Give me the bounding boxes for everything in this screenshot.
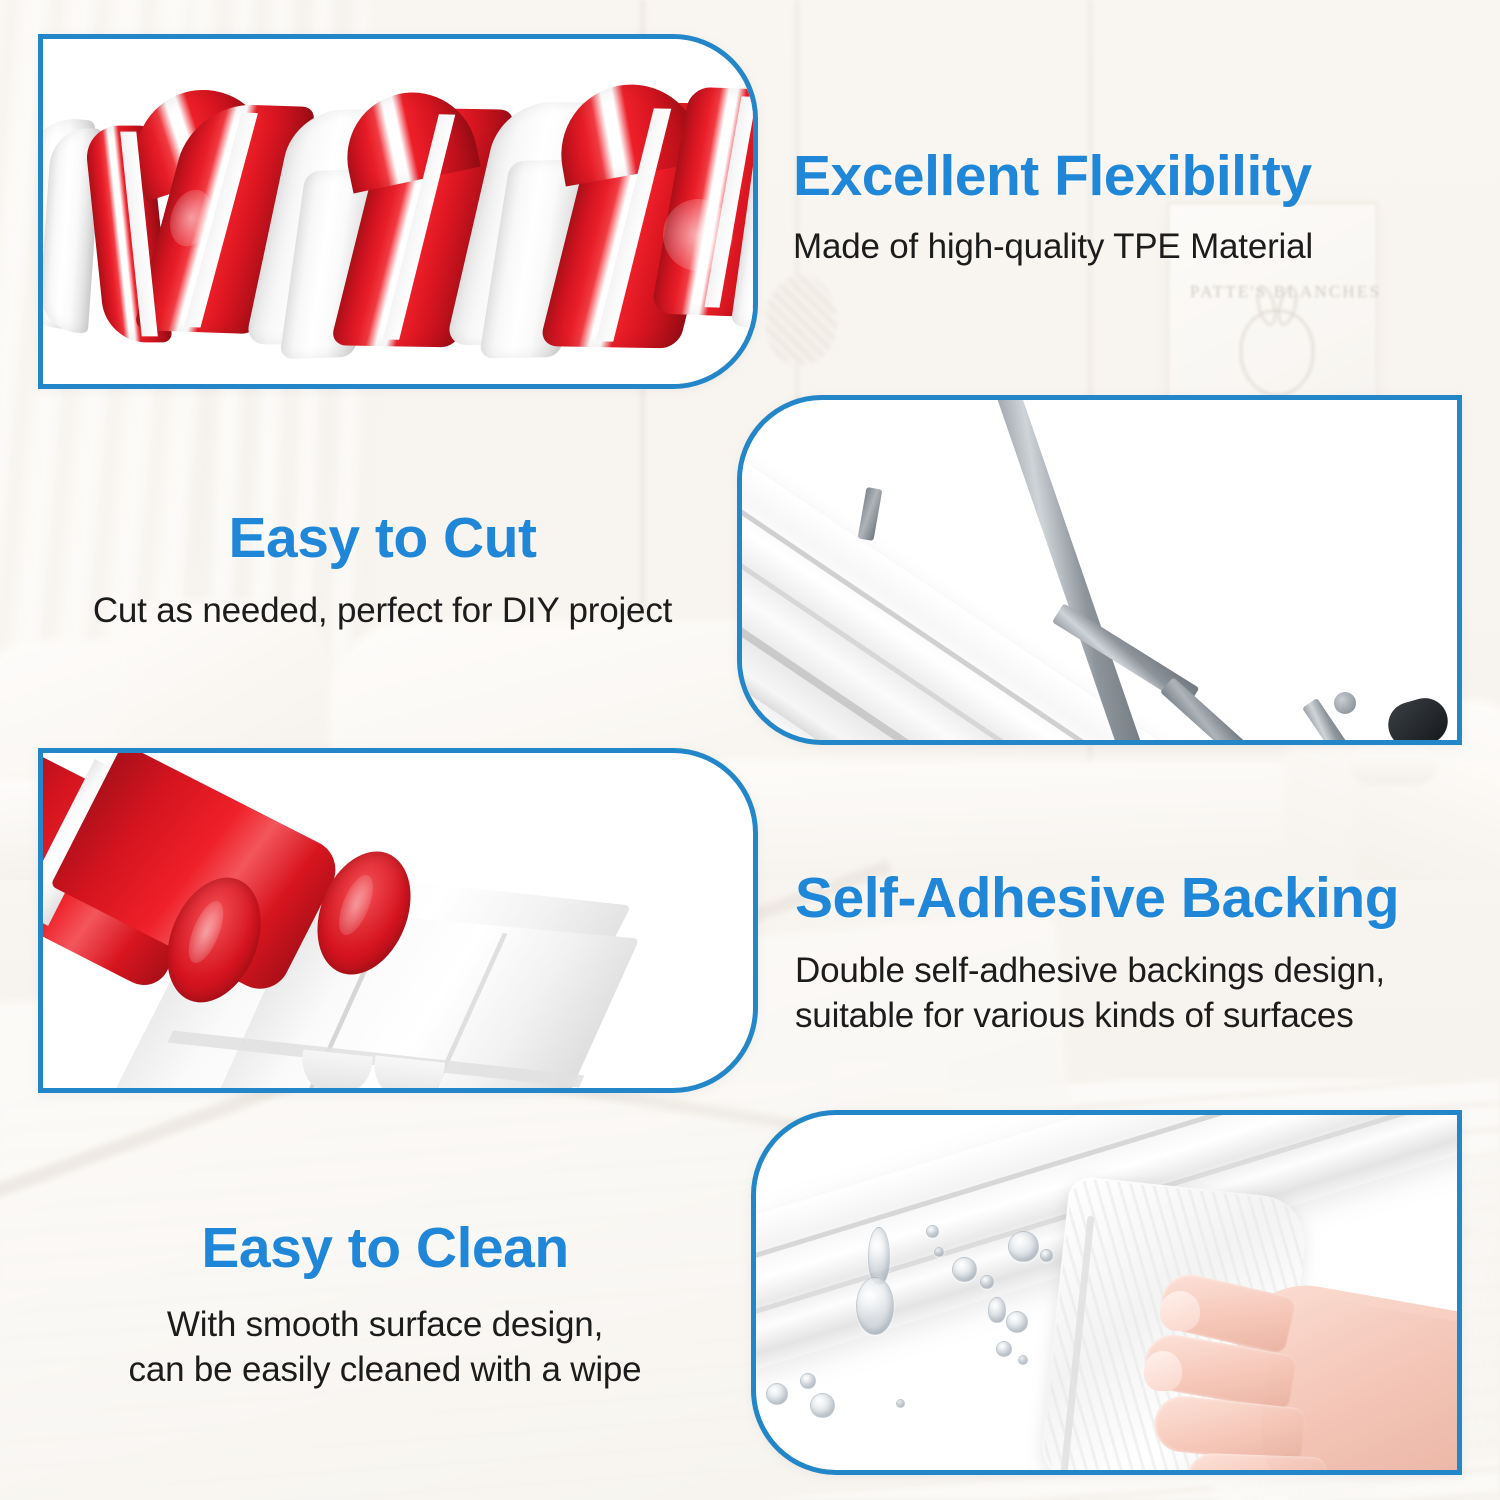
water-droplet <box>856 1277 894 1335</box>
feature-subtext-line-2: suitable for various kinds of surfaces <box>795 995 1399 1038</box>
water-droplet <box>996 1341 1012 1357</box>
water-droplet <box>980 1275 994 1289</box>
feature-image-panel-flexibility <box>38 34 758 389</box>
feature-text-flexibility: Excellent Flexibility Made of high-quali… <box>793 146 1313 269</box>
feature-text-self-adhesive: Self-Adhesive Backing Double self-adhesi… <box>795 868 1399 1038</box>
feature-heading: Self-Adhesive Backing <box>795 868 1399 928</box>
feature-heading: Excellent Flexibility <box>793 146 1313 206</box>
water-droplet <box>952 1257 977 1282</box>
water-droplet <box>1040 1249 1053 1262</box>
feature-subtext: Cut as needed, perfect for DIY project <box>55 590 710 633</box>
water-droplet <box>988 1297 1006 1323</box>
fingernail <box>1160 1291 1200 1331</box>
water-droplet <box>1006 1311 1028 1333</box>
water-droplet <box>896 1399 905 1408</box>
fingernail <box>1144 1351 1182 1391</box>
feature-image-panel-easy-to-clean <box>751 1110 1462 1475</box>
water-droplet <box>926 1225 939 1238</box>
scissors-handle <box>1383 693 1453 745</box>
feature-heading: Easy to Clean <box>60 1218 710 1278</box>
feature-image-panel-easy-to-cut <box>737 395 1462 745</box>
feature-subtext-line-1: With smooth surface design, <box>60 1304 710 1347</box>
water-droplet <box>810 1393 835 1418</box>
scissors-blade-tip <box>858 487 883 541</box>
water-droplet <box>800 1373 816 1389</box>
water-droplet <box>1008 1231 1039 1262</box>
scissors-shank <box>1160 677 1245 745</box>
coil-highlight <box>663 199 733 271</box>
scissors-cutting-illustration <box>742 400 1457 740</box>
feature-text-easy-to-cut: Easy to Cut Cut as needed, perfect for D… <box>55 508 710 633</box>
feature-heading: Easy to Cut <box>55 508 710 568</box>
feature-image-panel-self-adhesive <box>38 748 758 1093</box>
trim-strip-cross-section-illustration <box>43 753 753 1088</box>
feature-subtext-line-2: can be easily cleaned with a wipe <box>60 1349 710 1392</box>
scissors-pivot-screw <box>1334 692 1356 714</box>
water-droplet <box>934 1247 944 1257</box>
flange-scallop <box>371 1055 445 1093</box>
feature-subtext: Made of high-quality TPE Material <box>793 226 1313 269</box>
water-droplet <box>1018 1355 1028 1365</box>
feature-text-easy-to-clean: Easy to Clean With smooth surface design… <box>60 1218 710 1392</box>
water-droplet <box>766 1383 788 1405</box>
feature-subtext-line-1: Double self-adhesive backings design, <box>795 950 1399 993</box>
wiping-illustration <box>756 1115 1457 1470</box>
coiled-trim-strip-illustration <box>43 39 753 384</box>
